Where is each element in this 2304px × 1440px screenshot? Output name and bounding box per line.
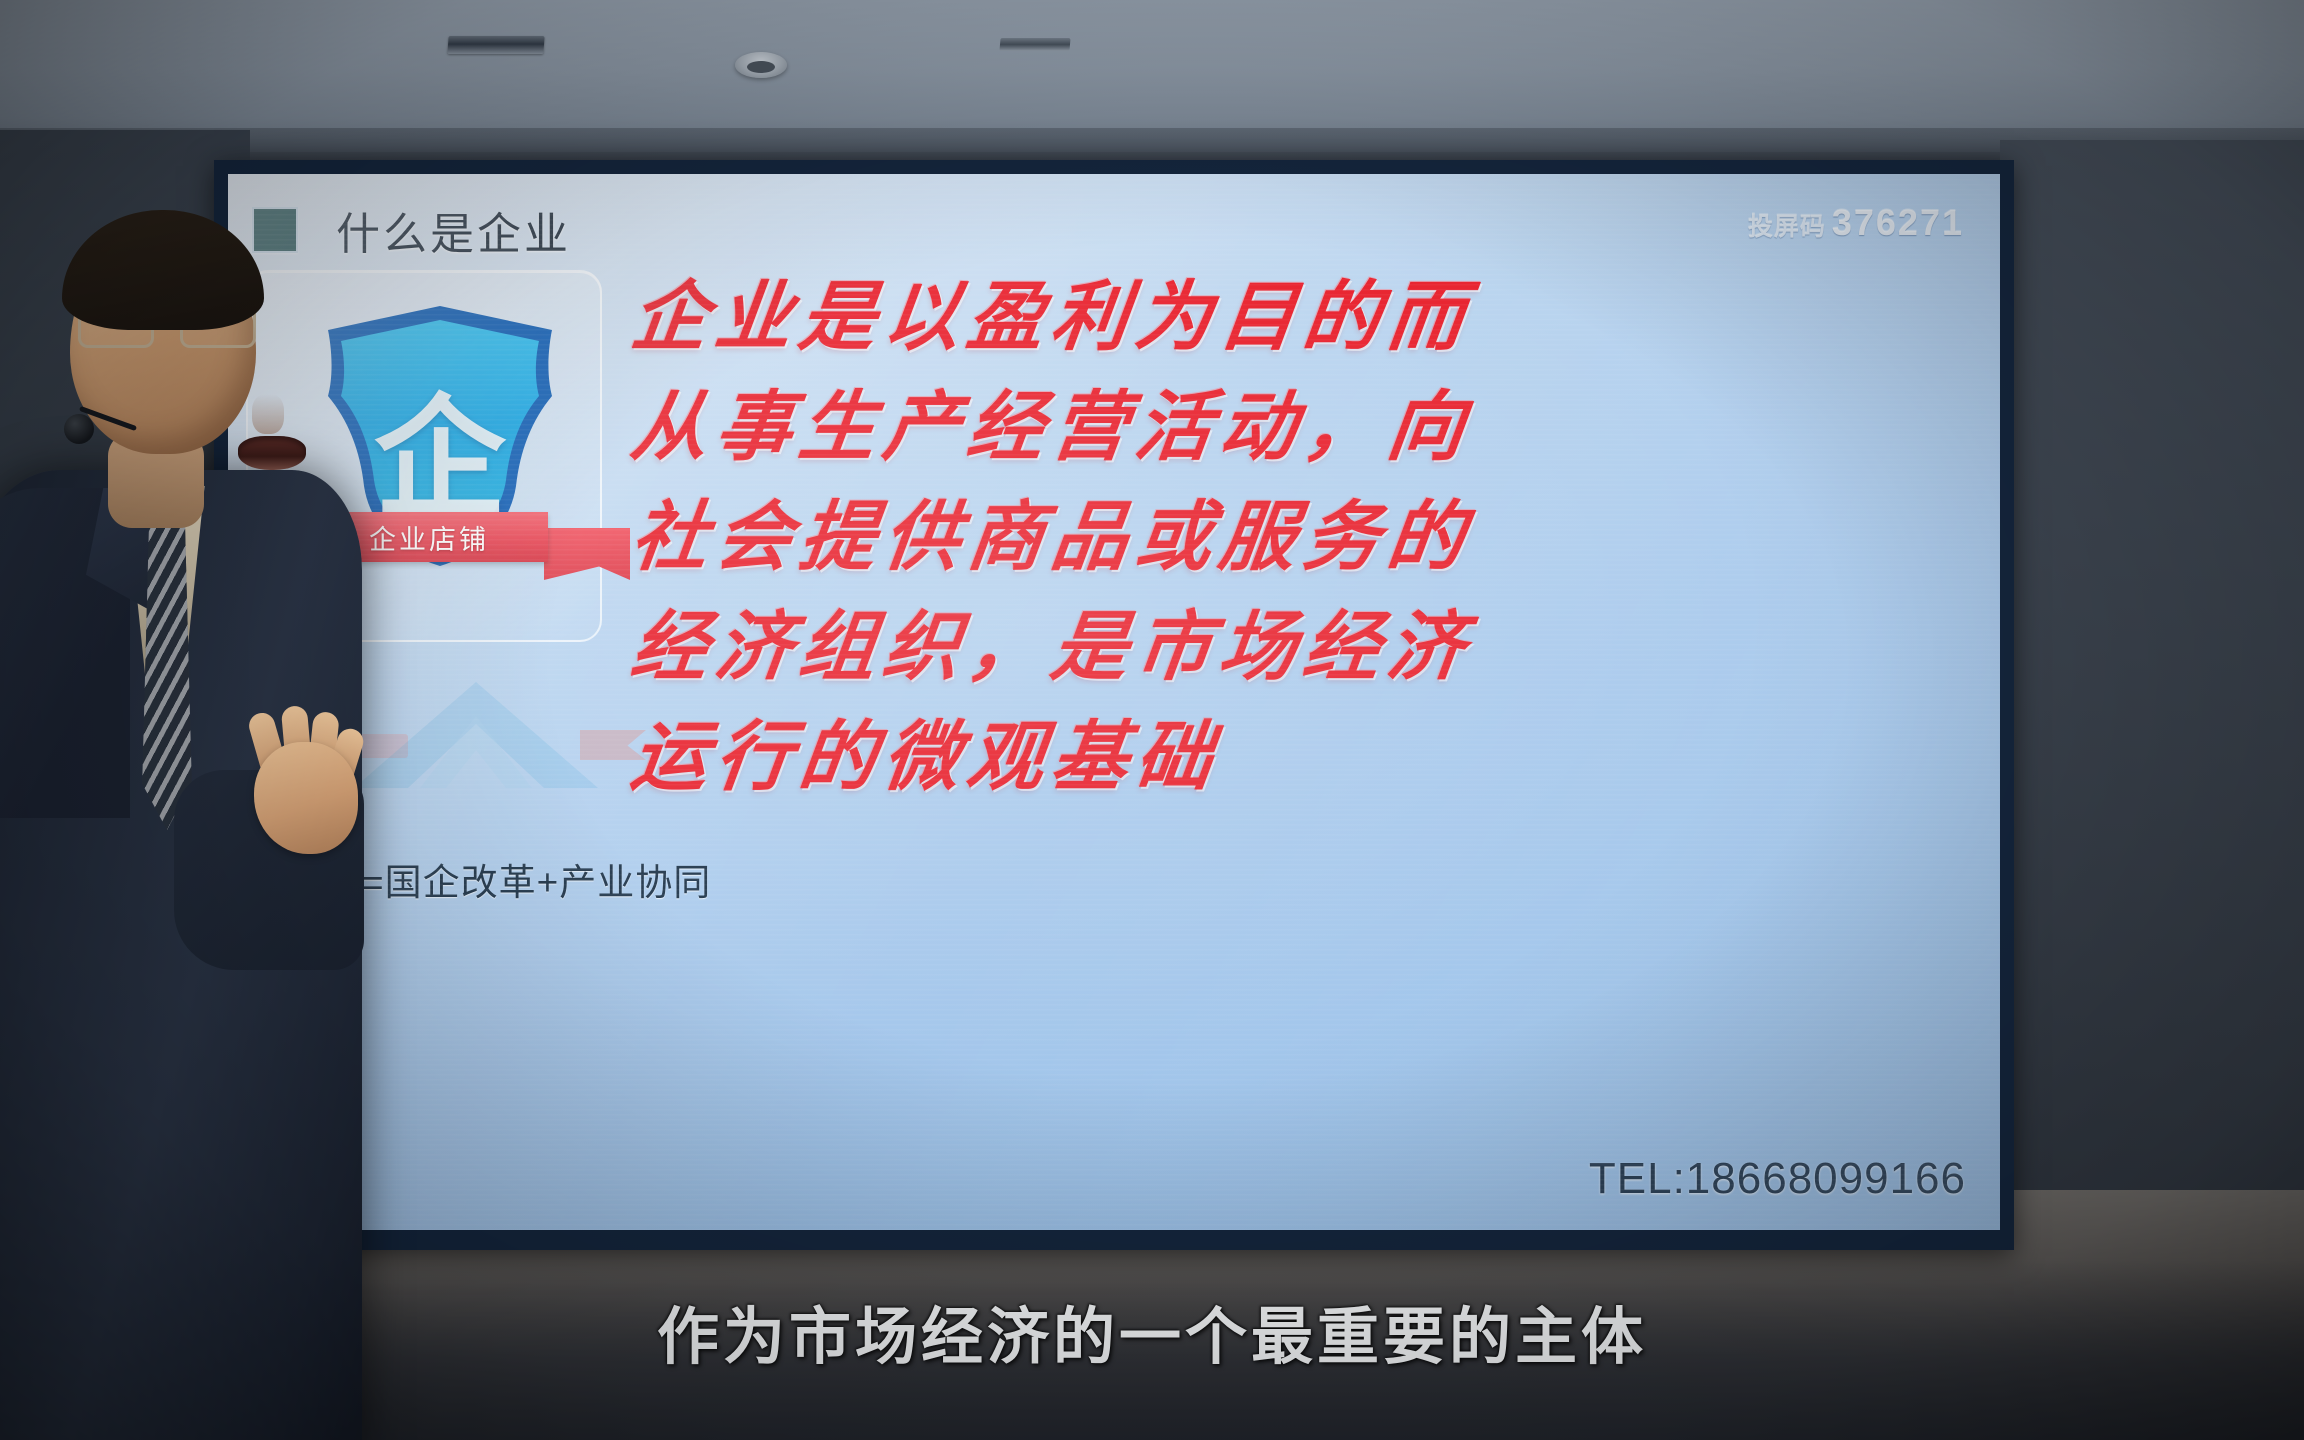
screen-cast-code-watermark: 投屏码376271 (1748, 202, 1964, 244)
projection-screen-frame: 什么是企业 投屏码376271 (214, 160, 2014, 1250)
presenter-hand (236, 706, 372, 864)
headset-microphone-icon (64, 414, 94, 444)
ceiling-vent-icon (447, 36, 544, 54)
body-line: 企业是以盈利为目的而 (625, 262, 1989, 372)
ceiling-vent-secondary-icon (999, 38, 1070, 51)
screen-cast-code-value: 376271 (1832, 202, 1964, 243)
presenter-hair (62, 210, 264, 330)
screenshot-stage: 什么是企业 投屏码376271 (0, 0, 2304, 1440)
presenter-nose (252, 394, 284, 434)
contact-phone: TEL:18668099166 (1589, 1154, 1966, 1204)
smoke-detector-icon (735, 52, 787, 78)
wall-upper-band (0, 128, 2304, 164)
screen-cast-code-label: 投屏码 (1748, 213, 1826, 241)
body-line: 经济组织，是市场经济 (625, 592, 1989, 702)
chevron-logo-icon (346, 676, 606, 796)
slide-body-text: 企业是以盈利为目的而 从事生产经营活动，向 社会提供商品或服务的 经济组织，是市… (632, 262, 1982, 812)
palm (254, 742, 358, 854)
body-line: 运行的微观基础 (625, 702, 1989, 812)
presenter (0, 170, 380, 1440)
video-caption: 作为市场经济的一个最重要的主体 (0, 1286, 2304, 1376)
presenter-mouth (238, 436, 306, 470)
body-line: 从事生产经营活动，向 (625, 372, 1989, 482)
card-tagline: 业=国企改革+产业协同 (324, 852, 711, 906)
body-line: 社会提供商品或服务的 (625, 482, 1989, 592)
projection-screen: 什么是企业 投屏码376271 (228, 174, 2000, 1230)
